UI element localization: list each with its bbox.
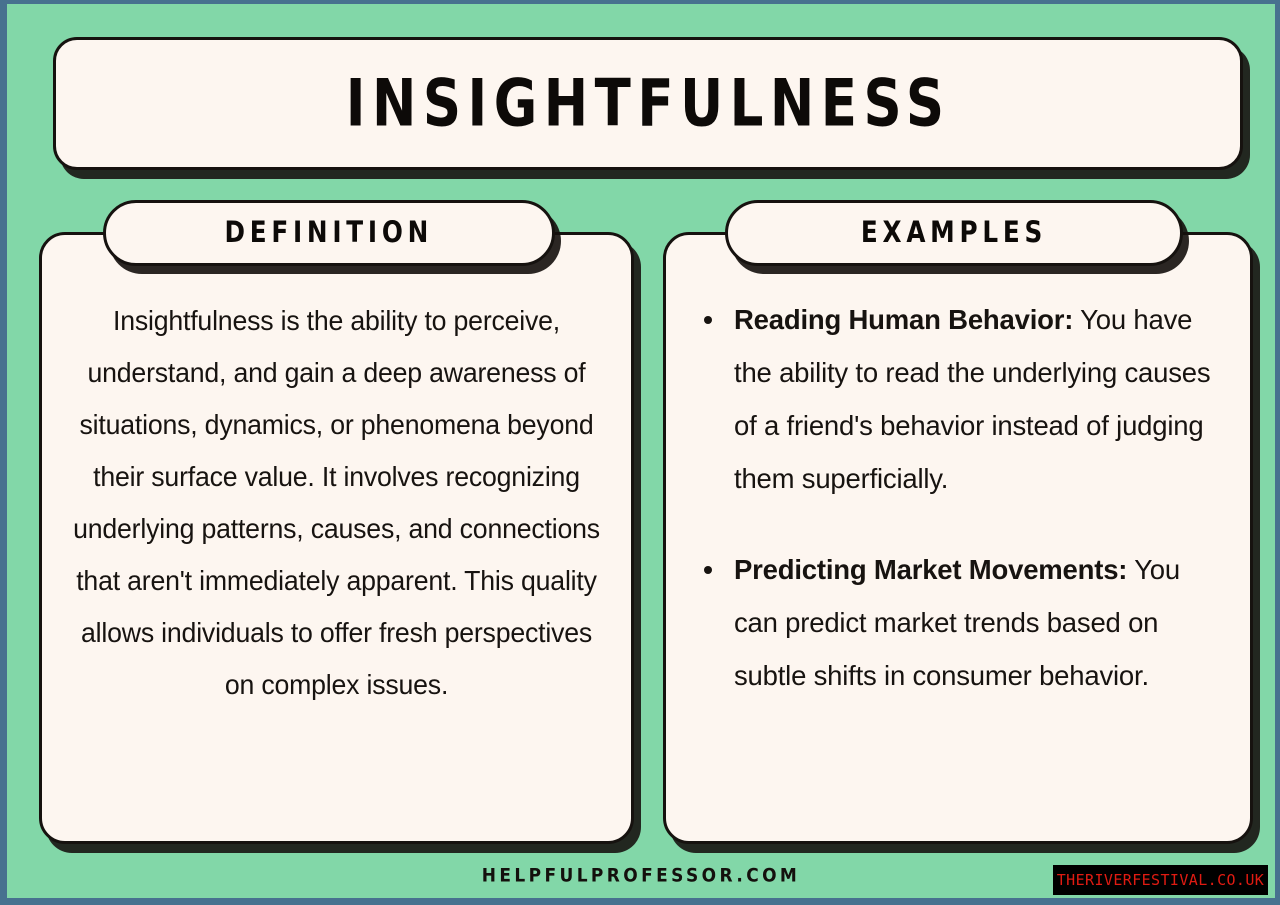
watermark-label: THERIVERFESTIVAL.CO.UK bbox=[1057, 871, 1264, 889]
list-item: Reading Human Behavior: You have the abi… bbox=[700, 293, 1228, 505]
examples-heading-pill: EXAMPLES bbox=[725, 200, 1183, 266]
definition-body-text: Insightfulness is the ability to perceiv… bbox=[68, 295, 604, 711]
bullet-icon bbox=[704, 566, 712, 574]
examples-list: Reading Human Behavior: You have the abi… bbox=[700, 293, 1228, 702]
examples-card: Reading Human Behavior: You have the abi… bbox=[663, 232, 1253, 844]
example-lead-label: Predicting Market Movements: bbox=[734, 554, 1127, 585]
watermark-badge: THERIVERFESTIVAL.CO.UK bbox=[1053, 865, 1268, 895]
example-lead-label: Reading Human Behavior: bbox=[734, 304, 1073, 335]
list-item: Predicting Market Movements: You can pre… bbox=[700, 543, 1228, 702]
page-title: INSIGHTFULNESS bbox=[346, 66, 951, 141]
poster-frame: INSIGHTFULNESS DEFINITION Insightfulness… bbox=[0, 0, 1280, 905]
definition-card: Insightfulness is the ability to perceiv… bbox=[39, 232, 634, 844]
title-card: INSIGHTFULNESS bbox=[53, 37, 1243, 170]
definition-heading-label: DEFINITION bbox=[225, 216, 434, 250]
definition-heading-pill: DEFINITION bbox=[103, 200, 555, 266]
poster-canvas: INSIGHTFULNESS DEFINITION Insightfulness… bbox=[7, 4, 1275, 898]
examples-heading-label: EXAMPLES bbox=[861, 216, 1047, 250]
bullet-icon bbox=[704, 316, 712, 324]
